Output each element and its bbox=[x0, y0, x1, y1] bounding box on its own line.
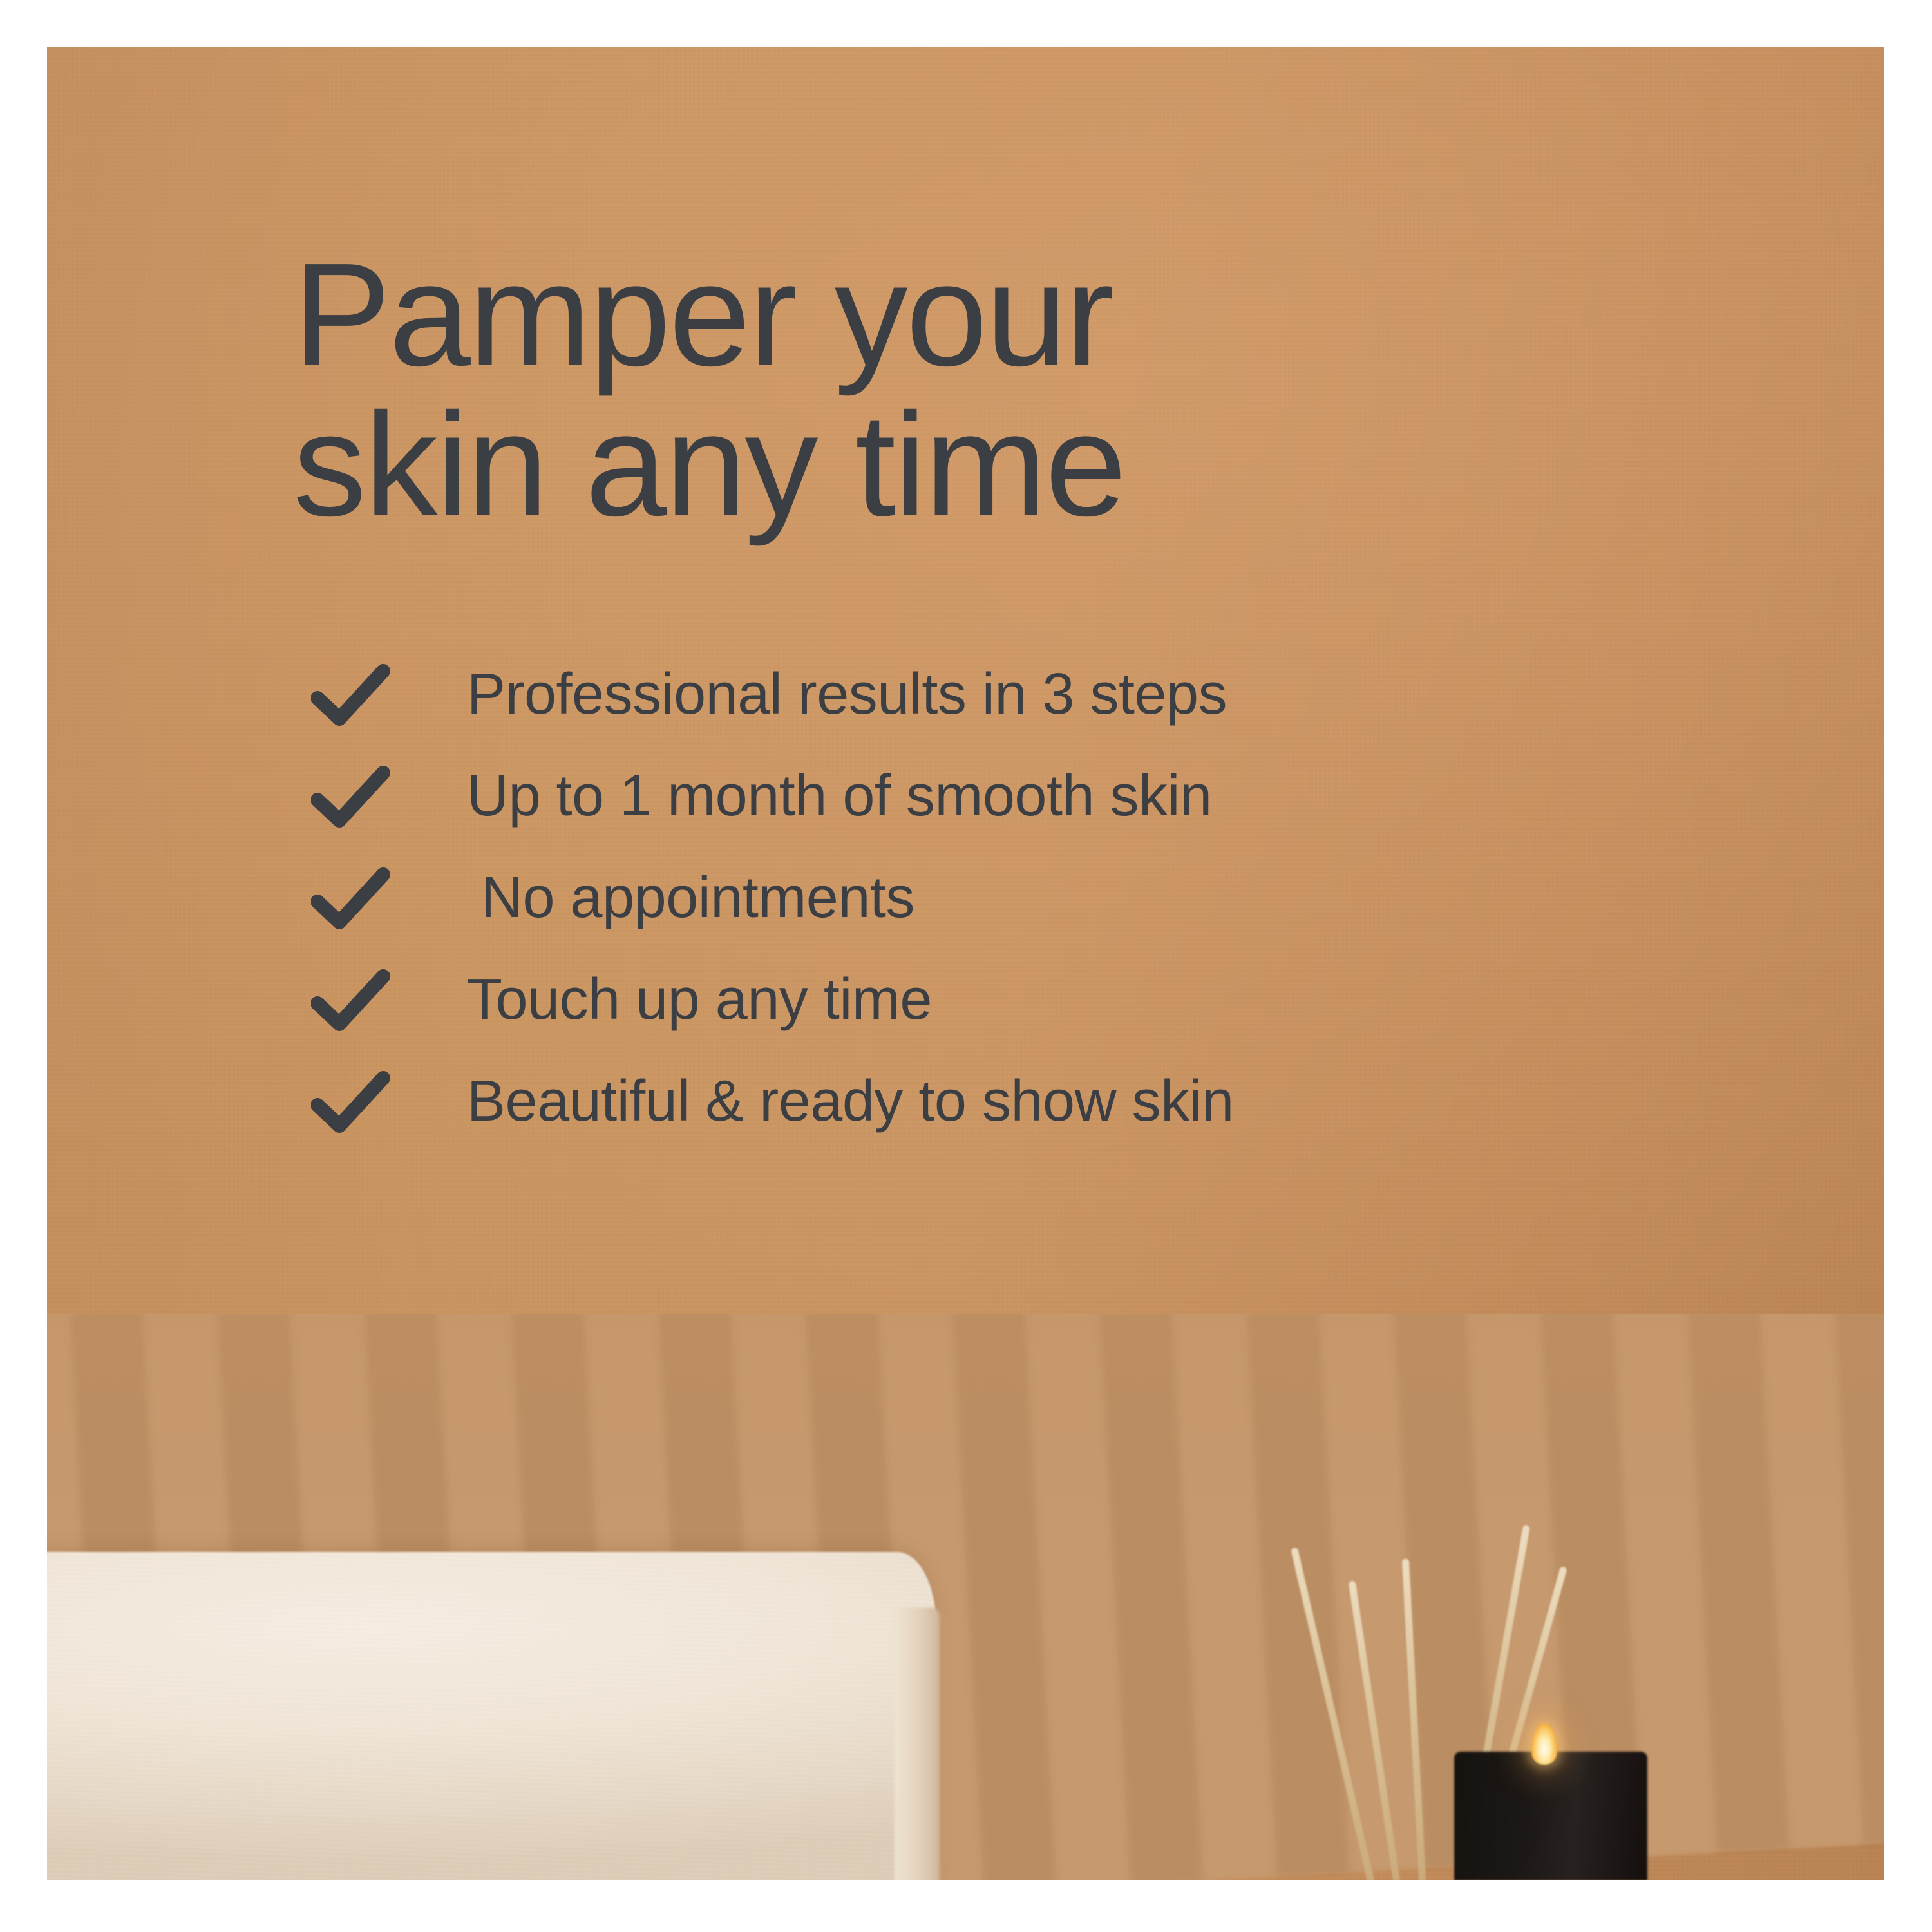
page-title: Pamper your skin any time bbox=[293, 240, 1710, 540]
check-icon bbox=[293, 1069, 467, 1133]
check-icon bbox=[293, 662, 467, 726]
list-item-label: Professional results in 3 steps bbox=[467, 664, 1227, 725]
towel-roll-edge bbox=[895, 1607, 940, 1880]
check-icon bbox=[293, 764, 467, 828]
poster-canvas: Pamper your skin any time Professional r… bbox=[0, 0, 1932, 1932]
copy-block: Pamper your skin any time Professional r… bbox=[293, 240, 1710, 1133]
candle bbox=[1454, 1752, 1647, 1880]
rolled-towel bbox=[47, 1552, 936, 1880]
benefits-list: Professional results in 3 steps Up to 1 … bbox=[293, 662, 1710, 1133]
list-item-label: Beautiful & ready to show skin bbox=[467, 1071, 1234, 1132]
towel-texture bbox=[47, 1552, 936, 1880]
list-item-label: Touch up any time bbox=[467, 969, 932, 1030]
list-item-label: Up to 1 month of smooth skin bbox=[467, 766, 1212, 827]
list-item: Professional results in 3 steps bbox=[293, 662, 1710, 726]
list-item: Up to 1 month of smooth skin bbox=[293, 764, 1710, 828]
list-item: Beautiful & ready to show skin bbox=[293, 1069, 1710, 1133]
check-icon bbox=[293, 866, 467, 930]
spa-photo-background: Pamper your skin any time Professional r… bbox=[47, 47, 1884, 1880]
check-icon bbox=[293, 967, 467, 1032]
list-item-label: No appointments bbox=[481, 867, 914, 929]
list-item: No appointments bbox=[293, 866, 1710, 930]
list-item: Touch up any time bbox=[293, 967, 1710, 1032]
